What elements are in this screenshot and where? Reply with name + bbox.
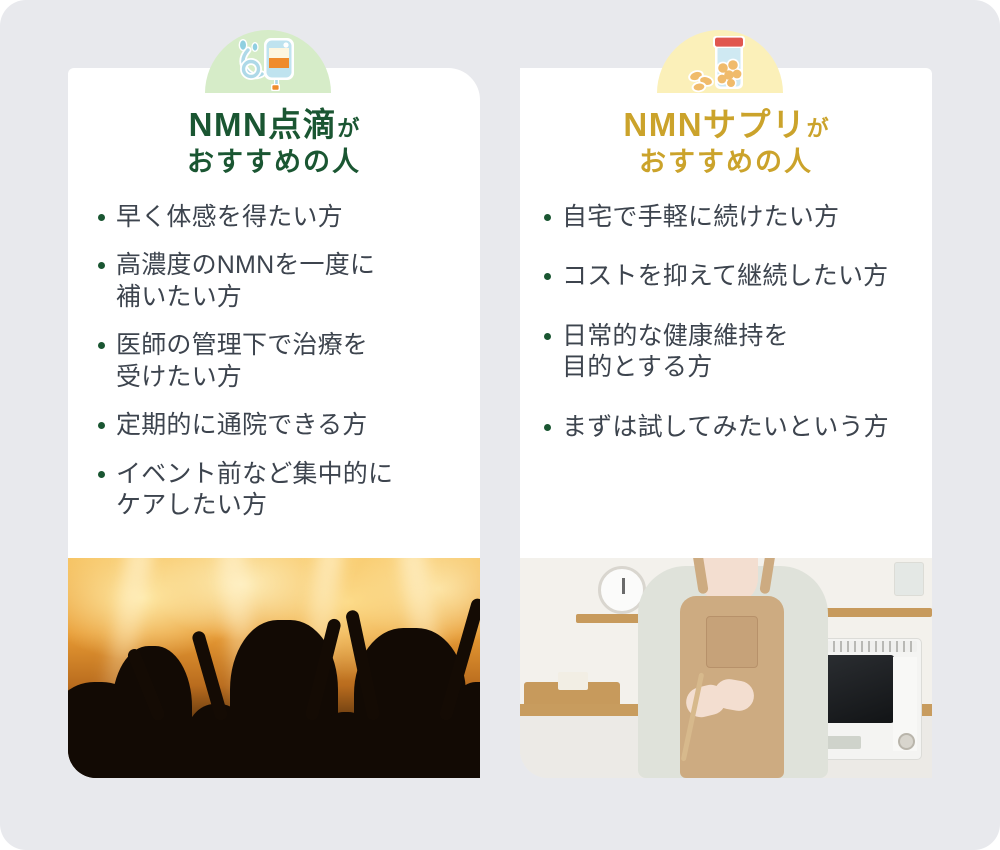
list-item: 定期的に通院できる方 [94, 410, 458, 442]
list-item-line-2: ケアしたい方 [116, 490, 458, 522]
list-item: 医師の管理下で治療を 受けたい方 [94, 330, 458, 393]
list-item: 高濃度のNMNを一度に 補いたい方 [94, 250, 458, 313]
heading-line-2: おすすめの人 [520, 146, 932, 180]
list-item: まずは試してみたいという方 [540, 412, 922, 444]
heading-suffix-text: が [807, 116, 829, 141]
list-item-line-1: イベント前など集中的に [116, 460, 393, 488]
list-item-line-2: 受けたい方 [116, 362, 458, 394]
list-item-line-1: コストを抑えて継続したい方 [562, 262, 888, 290]
card-nmn-supplement: NMNサプリが おすすめの人 自宅で手軽に続けたい方 コストを抑えて継続したい方… [520, 68, 932, 778]
recommendation-list: 早く体感を得たい方 高濃度のNMNを一度に 補いたい方 医師の管理下で治療を 受… [68, 202, 480, 522]
heading-line-1: NMN点滴が [68, 106, 480, 145]
list-item: 自宅で手軽に続けたい方 [540, 202, 922, 234]
list-item-line-1: 日常的な健康維持を [562, 322, 789, 350]
list-item-line-1: 早く体感を得たい方 [116, 203, 343, 231]
heading-main-text: NMNサプリ [623, 106, 806, 143]
list-item: 早く体感を得たい方 [94, 202, 458, 234]
list-item-line-1: 高濃度のNMNを一度に [116, 251, 375, 279]
list-item-line-1: 医師の管理下で治療を [116, 331, 368, 359]
list-item-line-2: 補いたい方 [116, 282, 458, 314]
list-item: 日常的な健康維持を 目的とする方 [540, 321, 922, 384]
heading-main-text: NMN点滴 [189, 106, 338, 143]
card-heading: NMNサプリが おすすめの人 [520, 68, 932, 180]
list-item: イベント前など集中的に ケアしたい方 [94, 459, 458, 522]
heading-line-2: おすすめの人 [68, 146, 480, 180]
list-item-line-1: 自宅で手軽に続けたい方 [562, 203, 839, 231]
card-heading: NMN点滴が おすすめの人 [68, 68, 480, 180]
card-nmn-drip: NMN点滴が おすすめの人 早く体感を得たい方 高濃度のNMNを一度に 補いたい… [68, 68, 480, 778]
list-item-line-1: 定期的に通院できる方 [116, 411, 368, 439]
heading-suffix-text: が [337, 116, 359, 141]
concert-crowd-photo [68, 558, 480, 778]
comparison-panel: NMN点滴が おすすめの人 早く体感を得たい方 高濃度のNMNを一度に 補いたい… [0, 0, 1000, 850]
kitchen-woman-photo [520, 558, 932, 778]
list-item-line-2: 目的とする方 [562, 352, 922, 384]
heading-line-1: NMNサプリが [520, 106, 932, 145]
list-item: コストを抑えて継続したい方 [540, 261, 922, 293]
list-item-line-1: まずは試してみたいという方 [562, 413, 889, 441]
recommendation-list: 自宅で手軽に続けたい方 コストを抑えて継続したい方 日常的な健康維持を 目的とす… [520, 202, 932, 444]
